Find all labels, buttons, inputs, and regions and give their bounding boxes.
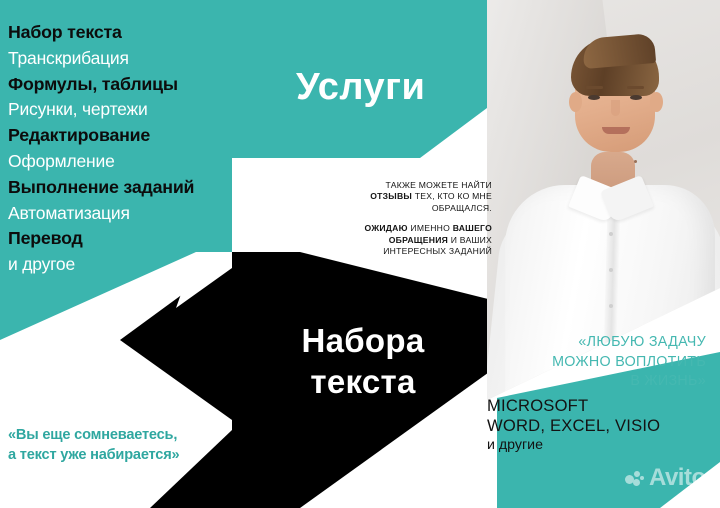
eyebrow-left [586, 86, 603, 89]
expect-mid-1: ИМЕННО [408, 223, 453, 233]
service-item-7: Автоматизация [8, 201, 258, 227]
expect-bold-vashego: ВАШЕГО [453, 223, 492, 233]
page-title-uslugi: Услуги [296, 66, 425, 109]
service-item-2: Формулы, таблицы [8, 72, 258, 98]
avito-dots-icon [625, 471, 644, 486]
nose [611, 100, 620, 116]
headline-nabora-teksta: Набора текста [258, 320, 468, 402]
reviews-line-2-rest: ТЕХ, КТО КО МНЕ [412, 191, 492, 201]
software-line-1: MICROSOFT [487, 396, 717, 416]
reviews-paragraph: ТАКЖЕ МОЖЕТЕ НАЙТИ ОТЗЫВЫ ТЕХ, КТО КО МН… [330, 180, 492, 214]
quote-left-line-2: а текст уже набирается» [8, 445, 248, 465]
services-list: Набор текста Транскрибация Формулы, табл… [8, 20, 258, 278]
expect-mid-2: И ВАШИХ [448, 235, 492, 245]
quote-left-line-1: «Вы еще сомневаетесь, [8, 425, 248, 445]
shirt-button [609, 268, 613, 272]
reviews-line-3: ОБРАЩАЛСЯ. [432, 203, 492, 213]
service-item-8: Перевод [8, 226, 258, 252]
software-line-2: WORD, EXCEL, VISIO [487, 416, 717, 436]
service-item-4: Редактирование [8, 123, 258, 149]
expect-bold-ozhidayu: ОЖИДАЮ [365, 223, 408, 233]
quote-right-line-2: МОЖНО ВОПЛОТИТЬ [487, 353, 706, 373]
service-item-0: Набор текста [8, 20, 258, 46]
headline-line-2: текста [258, 361, 468, 402]
service-item-9: и другое [8, 252, 258, 278]
service-item-1: Транскрибация [8, 46, 258, 72]
software-line-3: и другие [487, 436, 717, 455]
service-item-6: Выполнение заданий [8, 175, 258, 201]
advertisement-poster: Набор текста Транскрибация Формулы, табл… [0, 0, 720, 508]
reviews-bold-otzyvy: ОТЗЫВЫ [370, 191, 412, 201]
avito-watermark: Avito [625, 466, 706, 490]
mouth [602, 127, 630, 134]
eyebrow-right [627, 86, 644, 89]
service-item-3: Рисунки, чертежи [8, 97, 258, 123]
ear-right [650, 92, 663, 112]
quote-left: «Вы еще сомневаетесь, а текст уже набира… [8, 425, 248, 465]
reviews-line-1: ТАКЖЕ МОЖЕТЕ НАЙТИ [386, 180, 493, 190]
quote-right: «ЛЮБУЮ ЗАДАЧУ МОЖНО ВОПЛОТИТЬ В ЖИЗНЬ» [487, 333, 713, 392]
eye-left [588, 95, 600, 100]
expect-line-3: ИНТЕРЕСНЫХ ЗАДАНИЙ [383, 246, 492, 256]
headline-line-1: Набора [258, 320, 468, 361]
avito-watermark-label: Avito [649, 466, 706, 490]
quote-right-line-1: «ЛЮБУЮ ЗАДАЧУ [487, 333, 706, 353]
quote-right-line-3: В ЖИЗНЬ» [487, 372, 706, 392]
expectation-paragraph: ОЖИДАЮ ИМЕННО ВАШЕГО ОБРАЩЕНИЯ И ВАШИХ И… [330, 223, 492, 257]
eye-right [630, 95, 642, 100]
black-chevron-wing [120, 258, 232, 420]
ear-left [569, 92, 582, 112]
reviews-paragraph-block: ТАКЖЕ МОЖЕТЕ НАЙТИ ОТЗЫВЫ ТЕХ, КТО КО МН… [330, 180, 492, 257]
shirt-button [609, 232, 613, 236]
service-item-5: Оформление [8, 149, 258, 175]
expect-bold-obrashcheniya: ОБРАЩЕНИЯ [389, 235, 448, 245]
mole [634, 160, 637, 163]
shirt-button [609, 304, 613, 308]
software-list: MICROSOFT WORD, EXCEL, VISIO и другие [487, 396, 717, 455]
